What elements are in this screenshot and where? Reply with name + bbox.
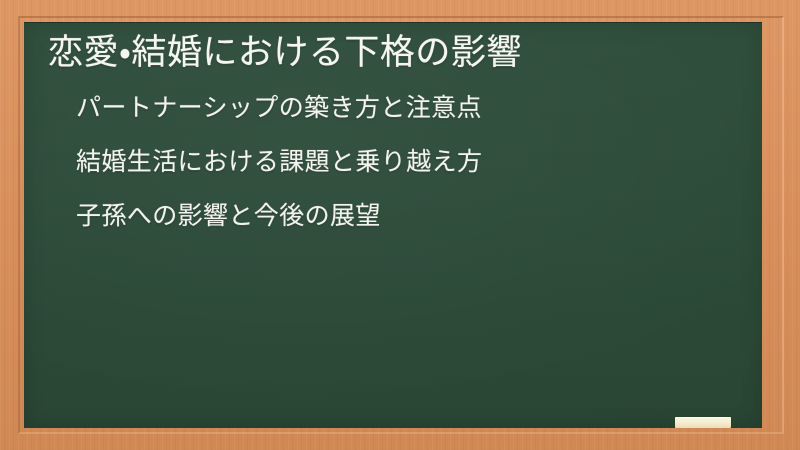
chalkboard-content: 恋愛・結婚における下格の影響 パートナーシップの築き方と注意点 結婚生活における… [24,22,762,428]
slide-title: 恋愛・結婚における下格の影響 [44,32,742,75]
chalk-stick-icon [675,417,731,428]
chalkboard-slide: 恋愛・結婚における下格の影響 パートナーシップの築き方と注意点 結婚生活における… [0,0,800,450]
bullet-list: パートナーシップの築き方と注意点 結婚生活における課題と乗り越え方 子孫への影響… [44,95,742,228]
bullet-item-3: 子孫への影響と今後の展望 [76,203,742,228]
chalkboard-surface: 恋愛・結婚における下格の影響 パートナーシップの築き方と注意点 結婚生活における… [24,22,762,428]
bullet-item-2: 結婚生活における課題と乗り越え方 [76,149,742,174]
bullet-item-1: パートナーシップの築き方と注意点 [76,95,742,120]
